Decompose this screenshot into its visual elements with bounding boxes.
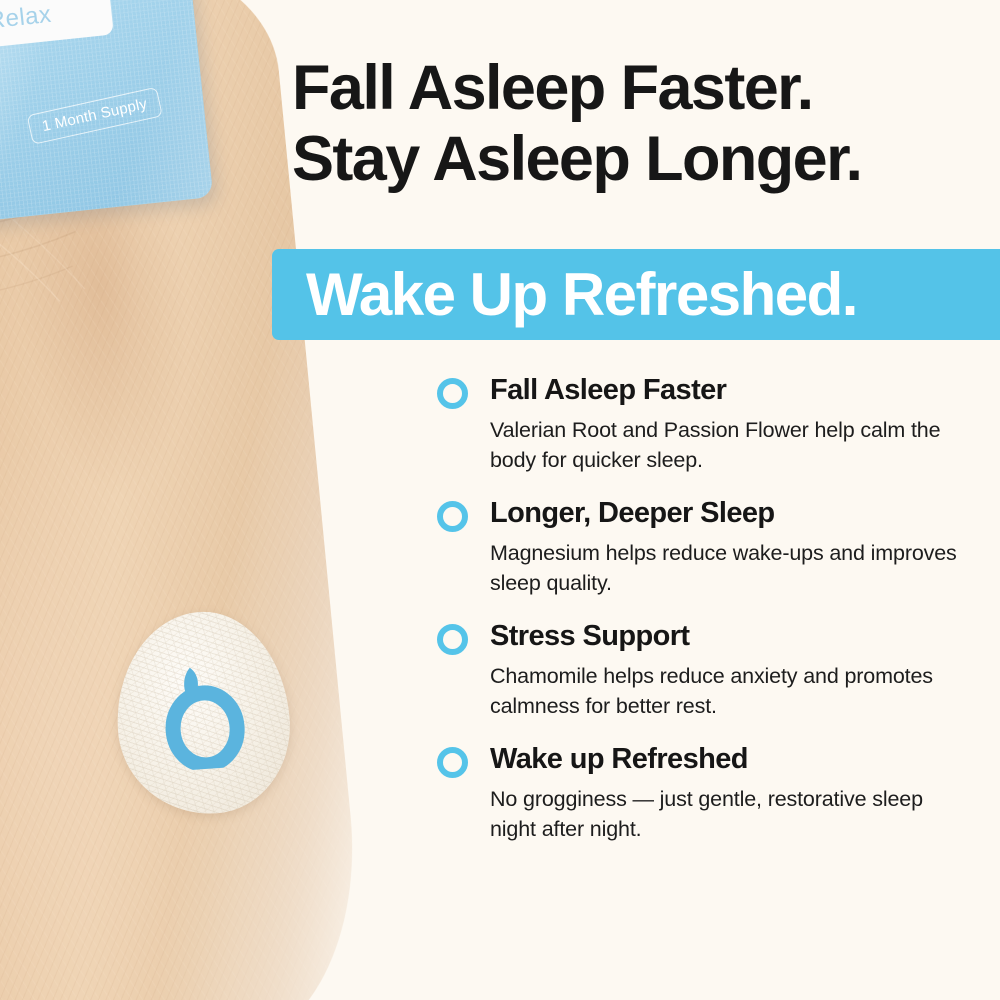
product-sachet: mg Relax 1 Month Supply bbox=[0, 0, 213, 222]
leaf-drop-logo-icon bbox=[156, 654, 250, 772]
benefit-list: Fall Asleep Faster Valerian Root and Pas… bbox=[437, 375, 972, 845]
benefit-title: Wake up Refreshed bbox=[490, 744, 972, 776]
benefit-item: Longer, Deeper Sleep Magnesium helps red… bbox=[437, 498, 972, 599]
benefit-item: Stress Support Chamomile helps reduce an… bbox=[437, 621, 972, 722]
benefit-description: Valerian Root and Passion Flower help ca… bbox=[490, 415, 972, 476]
benefit-title: Longer, Deeper Sleep bbox=[490, 498, 972, 530]
benefit-description: Chamomile helps reduce anxiety and promo… bbox=[490, 661, 972, 722]
product-marketing-image: mg Relax 1 Month Supply Fall Asleep Fast… bbox=[0, 0, 1000, 1000]
benefit-description: Magnesium helps reduce wake-ups and impr… bbox=[490, 538, 972, 599]
headline-line-2: Stay Asleep Longer. bbox=[292, 127, 992, 192]
circle-bullet-icon bbox=[437, 747, 468, 778]
circle-bullet-icon bbox=[437, 378, 468, 409]
benefit-description: No grogginess — just gentle, restorative… bbox=[490, 784, 972, 845]
benefit-item: Wake up Refreshed No grogginess — just g… bbox=[437, 744, 972, 845]
headline-banded-line: Wake Up Refreshed. bbox=[306, 260, 857, 329]
headline-block: Fall Asleep Faster. Stay Asleep Longer. bbox=[292, 56, 992, 192]
benefit-title: Fall Asleep Faster bbox=[490, 375, 972, 407]
benefit-item: Fall Asleep Faster Valerian Root and Pas… bbox=[437, 375, 972, 476]
sleep-patch bbox=[110, 606, 296, 820]
headline-line-1: Fall Asleep Faster. bbox=[292, 56, 992, 121]
headline-highlight-band: Wake Up Refreshed. bbox=[272, 249, 1000, 340]
benefit-title: Stress Support bbox=[490, 621, 972, 653]
circle-bullet-icon bbox=[437, 624, 468, 655]
circle-bullet-icon bbox=[437, 501, 468, 532]
sachet-relax-text: Relax bbox=[0, 1, 53, 36]
